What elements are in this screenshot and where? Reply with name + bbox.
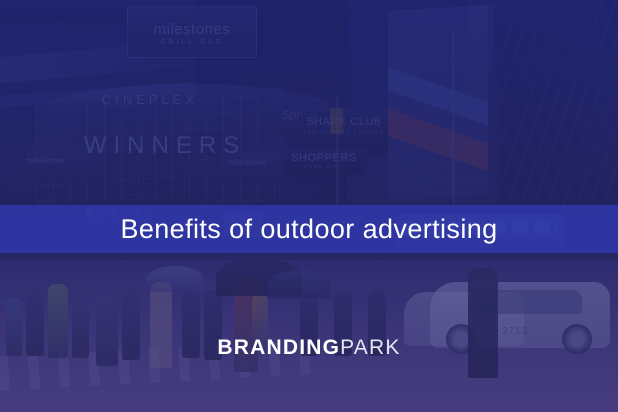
brand-logo-bold: BRANDING	[217, 336, 340, 359]
title-band: Benefits of outdoor advertising	[0, 205, 618, 253]
hero-banner: milestones GRILL BAR Spring SHARK CLUB B…	[0, 0, 618, 412]
page-title: Benefits of outdoor advertising	[120, 214, 497, 245]
brand-logo-light: PARK	[340, 336, 400, 359]
brand-logo: BRANDINGPARK	[0, 336, 618, 360]
